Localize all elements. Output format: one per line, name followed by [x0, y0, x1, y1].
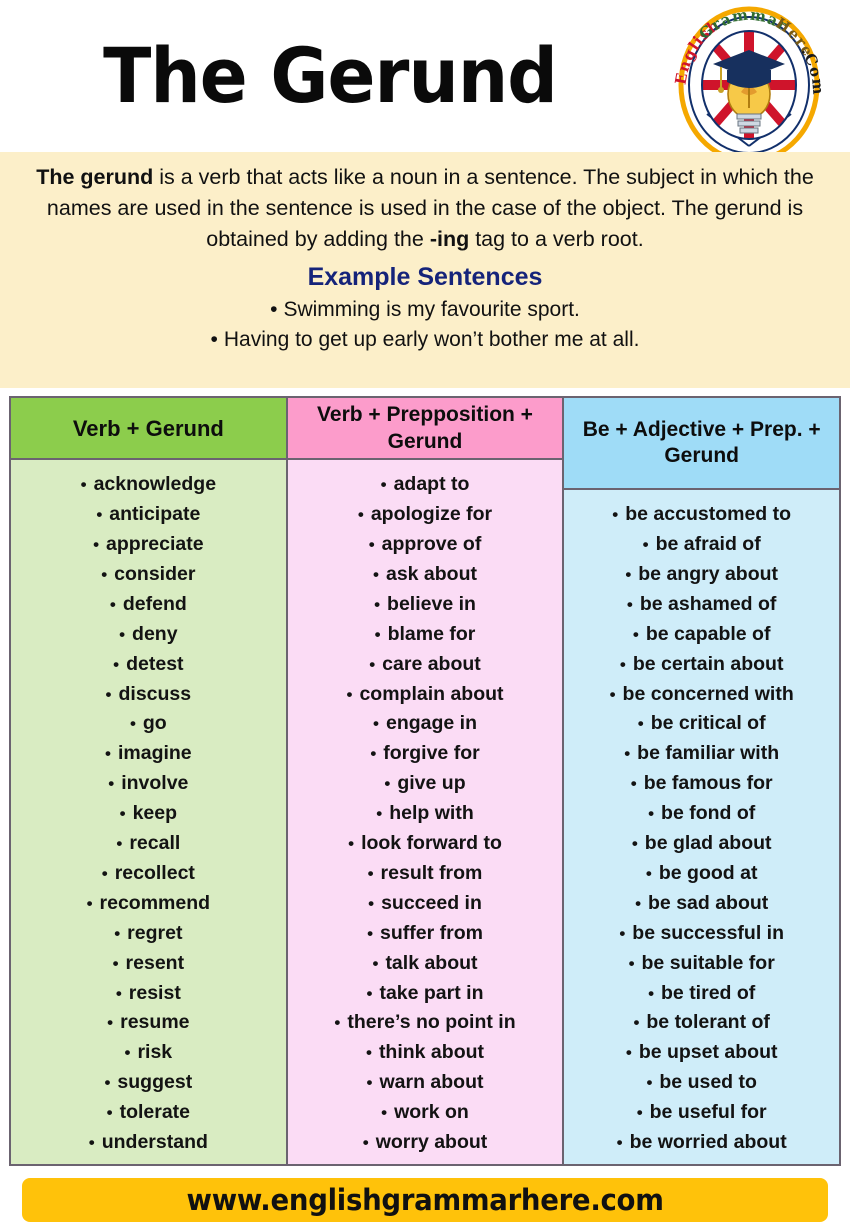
list-item: •be concerned with	[568, 680, 835, 710]
bullet-icon: •	[334, 1009, 340, 1038]
list-item: •complain about	[292, 680, 559, 710]
bullet-icon: •	[363, 1129, 369, 1158]
verb-preposition-gerund-list: •adapt to •apologize for •approve of •as…	[292, 470, 559, 1158]
list-item-label: look forward to	[361, 832, 502, 854]
list-item: •appreciate	[15, 530, 282, 560]
bullet-icon: •	[612, 501, 618, 530]
list-item: •ask about	[292, 560, 559, 590]
list-item-label: there’s no point in	[347, 1011, 515, 1033]
list-item-label: think about	[379, 1041, 484, 1063]
list-item: •resist	[15, 979, 282, 1009]
list-item-label: appreciate	[106, 533, 204, 555]
list-item-label: result from	[381, 862, 483, 884]
list-item: •suffer from	[292, 919, 559, 949]
bullet-icon: •	[625, 561, 631, 590]
example-sentences-heading: Example Sentences	[18, 261, 832, 293]
bullet-icon: •	[107, 1099, 113, 1128]
bullet-icon: •	[369, 531, 375, 560]
website-url: www.englishgrammarhere.com	[186, 1183, 663, 1217]
list-item: •care about	[292, 650, 559, 680]
list-item-label: involve	[121, 772, 188, 794]
list-item-label: help with	[389, 802, 474, 824]
list-item-label: recall	[129, 832, 180, 854]
list-item-label: complain about	[359, 683, 503, 705]
list-item: •worry about	[292, 1128, 559, 1158]
list-item: •be good at	[568, 859, 835, 889]
list-item: •detest	[15, 650, 282, 680]
bullet-icon: •	[116, 830, 122, 859]
bullet-icon: •	[104, 1069, 110, 1098]
bullet-icon: •	[119, 621, 125, 650]
bullet-icon: •	[125, 1039, 131, 1068]
list-item: •regret	[15, 919, 282, 949]
bullet-icon: •	[110, 591, 116, 620]
bullet-icon: •	[367, 1069, 373, 1098]
bullet-icon: •	[107, 1009, 113, 1038]
list-item-label: resist	[129, 982, 181, 1004]
list-item-label: be used to	[659, 1071, 757, 1093]
bullet-icon: •	[370, 740, 376, 769]
list-item: •acknowledge	[15, 470, 282, 500]
list-item-label: warn about	[379, 1071, 483, 1093]
list-item: •be accustomed to	[568, 500, 835, 530]
list-item-label: be good at	[659, 862, 758, 884]
bullet-icon: •	[101, 561, 107, 590]
infographic-page: The Gerund	[0, 0, 850, 1232]
list-item: •be worried about	[568, 1128, 835, 1158]
list-item: •be angry about	[568, 560, 835, 590]
list-item: •resume	[15, 1008, 282, 1038]
list-item: •deny	[15, 620, 282, 650]
list-item-label: go	[143, 712, 167, 734]
column-verb-plus-gerund: Verb + Gerund •acknowledge •anticipate •…	[11, 398, 286, 1164]
bullet-icon: •	[367, 980, 373, 1009]
bullet-icon: •	[648, 980, 654, 1009]
bullet-icon: •	[346, 681, 352, 710]
list-item: •be sad about	[568, 889, 835, 919]
gerund-table: Verb + Gerund •acknowledge •anticipate •…	[9, 396, 841, 1166]
list-item: •be familiar with	[568, 739, 835, 769]
list-item-label: be tolerant of	[646, 1011, 770, 1033]
bullet-icon: •	[358, 501, 364, 530]
list-item: •be certain about	[568, 650, 835, 680]
bullet-icon: •	[637, 1099, 643, 1128]
description-body-2: tag to a verb root.	[469, 227, 644, 251]
bullet-icon: •	[381, 471, 387, 500]
bullet-icon: •	[631, 770, 637, 799]
list-item-label: be afraid of	[656, 533, 761, 555]
list-item-label: consider	[114, 563, 195, 585]
list-item-label: regret	[127, 922, 182, 944]
list-item-label: risk	[137, 1041, 172, 1063]
bullet-icon: •	[348, 830, 354, 859]
english-grammar-here-logo: English Grammar Here .Com	[663, 6, 835, 164]
list-item: •blame for	[292, 620, 559, 650]
bullet-icon: •	[648, 800, 654, 829]
list-item-label: recollect	[115, 862, 195, 884]
list-item-label: be famous for	[644, 772, 773, 794]
column-be-adjective-preposition-gerund: Be + Adjective + Prep. + Gerund •be accu…	[562, 398, 839, 1164]
bullet-icon: •	[384, 770, 390, 799]
list-item-label: suffer from	[380, 922, 483, 944]
list-item: •look forward to	[292, 829, 559, 859]
bullet-icon: •	[372, 950, 378, 979]
list-item-label: be tired of	[661, 982, 755, 1004]
bullet-icon: •	[93, 531, 99, 560]
list-item: •be tired of	[568, 979, 835, 1009]
list-item: •warn about	[292, 1068, 559, 1098]
list-item-label: be fond of	[661, 802, 755, 824]
column-header: Verb + Gerund	[11, 398, 286, 460]
bullet-icon: •	[629, 950, 635, 979]
verb-gerund-list: •acknowledge •anticipate •appreciate •co…	[15, 470, 282, 1158]
list-item-label: be useful for	[650, 1101, 767, 1123]
list-item: •approve of	[292, 530, 559, 560]
list-item-label: approve of	[382, 533, 482, 555]
list-item-label: defend	[123, 593, 187, 615]
bullet-icon: •	[113, 950, 119, 979]
list-item-label: engage in	[386, 712, 477, 734]
list-item: •be upset about	[568, 1038, 835, 1068]
list-item: •forgive for	[292, 739, 559, 769]
bullet-icon: •	[374, 591, 380, 620]
bullet-icon: •	[619, 920, 625, 949]
description-emphasis: -ing	[430, 227, 469, 251]
bullet-icon: •	[646, 860, 652, 889]
bullet-icon: •	[108, 770, 114, 799]
list-item: •anticipate	[15, 500, 282, 530]
list-item: •be capable of	[568, 620, 835, 650]
list-item: •work on	[292, 1098, 559, 1128]
list-item-label: discuss	[119, 683, 192, 705]
list-item: •result from	[292, 859, 559, 889]
bullet-icon: •	[373, 561, 379, 590]
description-lead: The gerund	[36, 165, 153, 189]
list-item-label: resume	[120, 1011, 189, 1033]
bullet-icon: •	[635, 890, 641, 919]
list-item-label: succeed in	[381, 892, 482, 914]
bullet-icon: •	[643, 531, 649, 560]
list-item: •suggest	[15, 1068, 282, 1098]
bullet-icon: •	[373, 710, 379, 739]
list-item: •succeed in	[292, 889, 559, 919]
list-item-label: detest	[126, 653, 183, 675]
bullet-icon: •	[96, 501, 102, 530]
description-paragraph: The gerund is a verb that acts like a no…	[18, 162, 832, 255]
list-item: •engage in	[292, 709, 559, 739]
bullet-icon: •	[646, 1069, 652, 1098]
list-item: •help with	[292, 799, 559, 829]
example-sentence-text: Swimming is my favourite sport.	[283, 298, 579, 321]
list-item: •believe in	[292, 590, 559, 620]
list-item-label: work on	[394, 1101, 469, 1123]
list-item-label: talk about	[385, 952, 477, 974]
list-item-label: be glad about	[645, 832, 772, 854]
header: The Gerund	[0, 0, 850, 152]
bullet-icon: •	[381, 1099, 387, 1128]
bullet-icon: •	[116, 980, 122, 1009]
list-item-label: adapt to	[394, 473, 470, 495]
list-item-label: be accustomed to	[625, 503, 791, 525]
list-item: •be famous for	[568, 769, 835, 799]
list-item-label: give up	[397, 772, 465, 794]
list-item-label: be ashamed of	[640, 593, 777, 615]
list-item-label: be concerned with	[623, 683, 794, 705]
column-body: •adapt to •apologize for •approve of •as…	[288, 460, 563, 1164]
list-item-label: be angry about	[638, 563, 778, 585]
list-item-label: forgive for	[383, 742, 479, 764]
list-item: •take part in	[292, 979, 559, 1009]
list-item: •talk about	[292, 949, 559, 979]
bullet-icon: •	[368, 860, 374, 889]
column-body: •be accustomed to •be afraid of •be angr…	[564, 490, 839, 1164]
list-item: •be successful in	[568, 919, 835, 949]
list-item-label: suggest	[117, 1071, 192, 1093]
bullet-icon: •	[624, 740, 630, 769]
list-item-label: ask about	[386, 563, 477, 585]
list-item: •discuss	[15, 680, 282, 710]
bullet-icon: •	[367, 920, 373, 949]
list-item: •be glad about	[568, 829, 835, 859]
list-item-label: worry about	[376, 1131, 488, 1153]
list-item: •be used to	[568, 1068, 835, 1098]
bullet-icon: •	[638, 710, 644, 739]
list-item-label: tolerate	[120, 1101, 190, 1123]
bullet-icon: •	[633, 1009, 639, 1038]
list-item: •be critical of	[568, 709, 835, 739]
list-item: •tolerate	[15, 1098, 282, 1128]
list-item: •apologize for	[292, 500, 559, 530]
list-item-label: keep	[133, 802, 177, 824]
list-item: •be fond of	[568, 799, 835, 829]
page-title: The Gerund	[23, 28, 637, 124]
list-item-label: recommend	[100, 892, 211, 914]
list-item-label: understand	[102, 1131, 208, 1153]
bullet-icon: •	[113, 651, 119, 680]
list-item: •be ashamed of	[568, 590, 835, 620]
bullet-icon: •	[106, 681, 112, 710]
list-item: •risk	[15, 1038, 282, 1068]
bullet-icon: •	[366, 1039, 372, 1068]
bullet-icon: •	[81, 471, 87, 500]
list-item: •adapt to	[292, 470, 559, 500]
column-header: Be + Adjective + Prep. + Gerund	[564, 398, 839, 490]
bullet-icon: •	[368, 890, 374, 919]
list-item-label: acknowledge	[94, 473, 216, 495]
list-item-label: be sad about	[648, 892, 768, 914]
list-item: •understand	[15, 1128, 282, 1158]
list-item: •think about	[292, 1038, 559, 1068]
be-adjective-preposition-gerund-list: •be accustomed to •be afraid of •be angr…	[568, 500, 835, 1158]
list-item-label: be worried about	[630, 1131, 787, 1153]
bullet-icon: •	[105, 740, 111, 769]
bullet-icon: •	[87, 890, 93, 919]
list-item: •recommend	[15, 889, 282, 919]
bullet-icon: •	[632, 830, 638, 859]
list-item: •keep	[15, 799, 282, 829]
list-item: •involve	[15, 769, 282, 799]
list-item: •recollect	[15, 859, 282, 889]
list-item-label: apologize for	[371, 503, 492, 525]
bullet-icon: •	[270, 295, 277, 325]
list-item: •give up	[292, 769, 559, 799]
list-item-label: be certain about	[633, 653, 784, 675]
list-item-label: be critical of	[651, 712, 766, 734]
list-item-label: care about	[382, 653, 481, 675]
bullet-icon: •	[610, 681, 616, 710]
list-item-label: be suitable for	[642, 952, 775, 974]
list-item: •resent	[15, 949, 282, 979]
list-item: •consider	[15, 560, 282, 590]
list-item-label: anticipate	[109, 503, 200, 525]
bullet-icon: •	[89, 1129, 95, 1158]
list-item: •Having to get up early won’t bother me …	[18, 325, 832, 355]
list-item: •be useful for	[568, 1098, 835, 1128]
bullet-icon: •	[627, 591, 633, 620]
bullet-icon: •	[211, 325, 218, 355]
bullet-icon: •	[369, 651, 375, 680]
bullet-icon: •	[375, 621, 381, 650]
bullet-icon: •	[114, 920, 120, 949]
column-header: Verb + Prepposition + Gerund	[288, 398, 563, 460]
list-item-label: be upset about	[639, 1041, 778, 1063]
bullet-icon: •	[120, 800, 126, 829]
bullet-icon: •	[130, 710, 136, 739]
bullet-icon: •	[626, 1039, 632, 1068]
bullet-icon: •	[617, 1129, 623, 1158]
list-item: •be afraid of	[568, 530, 835, 560]
bullet-icon: •	[376, 800, 382, 829]
list-item: •recall	[15, 829, 282, 859]
website-banner[interactable]: www.englishgrammarhere.com	[22, 1178, 828, 1222]
description-band: The gerund is a verb that acts like a no…	[0, 152, 850, 388]
list-item: •imagine	[15, 739, 282, 769]
list-item-label: imagine	[118, 742, 192, 764]
bullet-icon: •	[620, 651, 626, 680]
list-item: •there’s no point in	[292, 1008, 559, 1038]
bullet-icon: •	[633, 621, 639, 650]
example-sentences-list: •Swimming is my favourite sport. •Having…	[18, 295, 832, 355]
list-item-label: be capable of	[646, 623, 771, 645]
list-item-label: believe in	[387, 593, 476, 615]
list-item-label: blame for	[388, 623, 476, 645]
column-verb-preposition-gerund: Verb + Prepposition + Gerund •adapt to •…	[286, 398, 563, 1164]
example-sentence-text: Having to get up early won’t bother me a…	[224, 328, 640, 351]
list-item: •go	[15, 709, 282, 739]
list-item: •defend	[15, 590, 282, 620]
list-item-label: deny	[132, 623, 178, 645]
list-item: •be suitable for	[568, 949, 835, 979]
list-item: •Swimming is my favourite sport.	[18, 295, 832, 325]
list-item-label: take part in	[379, 982, 483, 1004]
bullet-icon: •	[102, 860, 108, 889]
column-body: •acknowledge •anticipate •appreciate •co…	[11, 460, 286, 1164]
list-item-label: resent	[126, 952, 185, 974]
list-item-label: be familiar with	[637, 742, 779, 764]
list-item: •be tolerant of	[568, 1008, 835, 1038]
list-item-label: be successful in	[632, 922, 784, 944]
